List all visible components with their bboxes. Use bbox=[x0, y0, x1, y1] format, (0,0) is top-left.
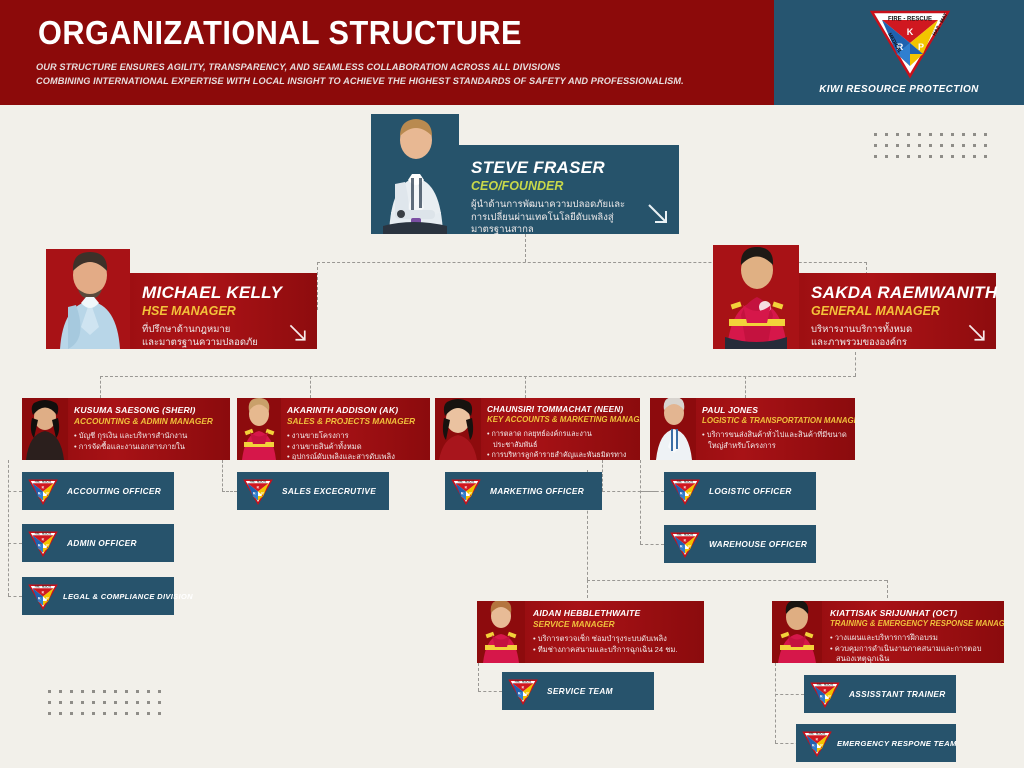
connector-kiattisak-b1 bbox=[775, 694, 804, 695]
svg-text:FIRE - RESCUE: FIRE - RESCUE bbox=[888, 17, 932, 23]
bullet: • การตลาด กลยุทธ์องค์กรและงานประชาสัมพัน… bbox=[487, 429, 635, 450]
connector-akarinth-spine bbox=[222, 460, 223, 491]
team-box-logistic-officer[interactable]: FIRE - RESCUE K R P LOGISTIC OFFICER bbox=[664, 472, 816, 510]
manager-card-akarinth-text: AKARINTH ADDISON (AK) SALES & PROJECTS M… bbox=[287, 405, 424, 460]
manager-card-kiattisak-photo bbox=[772, 601, 822, 663]
connector-paul-spine bbox=[640, 460, 641, 544]
page-header: ORGANIZATIONAL STRUCTURE OUR STRUCTURE E… bbox=[0, 0, 1024, 105]
svg-text:K: K bbox=[42, 590, 45, 594]
team-box-label: EMERGENCY RESPONE TEAM bbox=[837, 739, 957, 748]
team-box-label: ADMIN OFFICER bbox=[67, 538, 137, 548]
manager-card-aidan-name: AIDAN HEBBLETHWAITE bbox=[533, 608, 698, 618]
svg-text:R: R bbox=[812, 743, 815, 747]
exec-card-ceo-arrow-icon bbox=[645, 201, 671, 227]
connector-manager-bus bbox=[100, 376, 856, 377]
svg-text:FIRE - RESCUE: FIRE - RESCUE bbox=[817, 684, 834, 686]
manager-card-kusuma-role: ACCOUNTING & ADMIN MANAGER bbox=[74, 416, 224, 426]
page-subtitle-line-1: OUR STRUCTURE ENSURES AGILITY, TRANSPARE… bbox=[36, 60, 684, 74]
svg-text:R: R bbox=[680, 544, 683, 548]
svg-text:FIRE - RESCUE: FIRE - RESCUE bbox=[35, 533, 52, 535]
connector-ceo-stem bbox=[525, 234, 526, 262]
kiwi-shield-icon: FIRE - RESCUE K R P bbox=[243, 478, 273, 505]
svg-text:R: R bbox=[680, 491, 683, 495]
connector-sakda-stem bbox=[855, 352, 856, 376]
team-box-label: ACCOUTING OFFICER bbox=[67, 486, 161, 496]
svg-text:R: R bbox=[38, 491, 41, 495]
manager-card-kusuma-name: KUSUMA SAESONG (SHERI) bbox=[74, 405, 224, 415]
exec-card-sakda-raemwanith[interactable]: SAKDA RAEMWANITH GENERAL MANAGER บริหารง… bbox=[713, 273, 996, 349]
bullet: • บัญชี กุรเงิน และบริหารสำนักงาน bbox=[74, 431, 224, 442]
bullet: • การบริหารลูกค้ารายสำคัญและพันธมิตรทางธ… bbox=[487, 450, 635, 460]
bullet: • อุปกรณ์ดับเพลิงและสารดับเพลิง bbox=[287, 452, 424, 460]
connector-akarinth-b1 bbox=[222, 491, 237, 492]
team-box-label: MARKETING OFFICER bbox=[490, 486, 584, 496]
exec-card-michael-kelly-role: HSE MANAGER bbox=[142, 304, 307, 318]
exec-card-sakda-text: SAKDA RAEMWANITH GENERAL MANAGER บริหารง… bbox=[811, 283, 986, 349]
kiwi-shield-icon: FIRE - RESCUE K R P bbox=[670, 531, 700, 558]
svg-text:R: R bbox=[38, 543, 41, 547]
bullet: • ทีมช่างภาคสนามและบริการฉุกเฉิน 24 ชม. bbox=[533, 645, 698, 656]
kiwi-shield-icon: FIRE - RESCUE K R P bbox=[28, 583, 58, 610]
manager-card-paul-bullets: • บริการขนส่งสินค้าทั่วไปและสินค้าที่มีข… bbox=[702, 430, 849, 451]
svg-text:R: R bbox=[253, 491, 256, 495]
manager-card-akarinth-addison[interactable]: AKARINTH ADDISON (AK) SALES & PROJECTS M… bbox=[237, 398, 430, 460]
manager-card-kiattisak-role: TRAINING & EMERGENCY RESPONSE MANAGER bbox=[830, 619, 998, 628]
team-box-label: WAREHOUSE OFFICER bbox=[709, 539, 807, 549]
svg-text:R: R bbox=[461, 491, 464, 495]
team-box-assisstant-trainer[interactable]: FIRE - RESCUE K R P ASSISSTANT TRAINER bbox=[804, 675, 956, 713]
svg-text:K: K bbox=[907, 27, 914, 37]
kiwi-shield-icon: FIRE - RESCUE K R P bbox=[670, 478, 700, 505]
manager-card-kusuma-photo bbox=[22, 398, 68, 460]
exec-card-ceo-role: CEO/FOUNDER bbox=[471, 179, 669, 193]
exec-card-michael-kelly[interactable]: MICHAEL KELLY HSE MANAGER ที่ปรึกษาด้านก… bbox=[46, 273, 317, 349]
manager-card-aidan-hebblethwaite[interactable]: AIDAN HEBBLETHWAITE SERVICE MANAGER • บร… bbox=[477, 601, 704, 663]
page-subtitle: OUR STRUCTURE ENSURES AGILITY, TRANSPARE… bbox=[36, 60, 684, 88]
connector-kiattisak-drop bbox=[887, 580, 888, 598]
bullet: • ควบคุมการดำเนินงานภาคสนามและการตอบสนอง… bbox=[830, 644, 998, 664]
connector-mgr3-drop bbox=[525, 376, 526, 398]
kiwi-shield-icon: FIRE - RESCUE K R P bbox=[451, 478, 481, 505]
svg-text:K: K bbox=[824, 688, 827, 692]
connector-chaunsiri-spine bbox=[602, 460, 603, 491]
bullet: • บริการตรวจเช็ก ซ่อมบำรุงระบบดับเพลิง bbox=[533, 634, 698, 645]
exec-card-sakda-description: บริหารงานบริการทั้งหมด และภาพรวมขององค์ก… bbox=[811, 324, 986, 349]
company-logo-icon: FIRE - RESCUE K R P MEDICAL HAZ - MAT bbox=[869, 8, 951, 80]
manager-card-chaunsiri-photo bbox=[435, 398, 481, 460]
manager-card-paul-role: LOGISTIC & TRANSPORTATION MANAGER bbox=[702, 416, 849, 425]
connector-paul-b2 bbox=[640, 544, 664, 545]
svg-text:FIRE - RESCUE: FIRE - RESCUE bbox=[35, 481, 52, 483]
svg-text:K: K bbox=[684, 485, 687, 489]
bullet: • งานขายโครงการ bbox=[287, 431, 424, 442]
team-box-label: ASSISSTANT TRAINER bbox=[849, 689, 946, 699]
manager-card-akarinth-photo bbox=[237, 398, 281, 460]
svg-text:P: P bbox=[918, 42, 924, 52]
connector-mgr2-drop bbox=[310, 376, 311, 398]
exec-card-sakda-photo bbox=[713, 245, 799, 349]
manager-card-kiattisak-srijunhat[interactable]: KIATTISAK SRIJUNHAT (OCT) TRAINING & EME… bbox=[772, 601, 1004, 663]
kiwi-shield-icon: FIRE - RESCUE K R P bbox=[508, 678, 538, 705]
exec-card-ceo[interactable]: STEVE FRASER CEO/FOUNDER ผู้นำด้านการพัฒ… bbox=[371, 145, 679, 234]
manager-card-kiattisak-bullets: • วางแผนและบริหารการฝึกอบรม • ควบคุมการด… bbox=[830, 633, 998, 663]
exec-card-ceo-name: STEVE FRASER bbox=[471, 158, 669, 178]
svg-text:K: K bbox=[42, 537, 45, 541]
manager-card-chaunsiri-tommachat[interactable]: CHAUNSIRI TOMMACHAT (NEEN) KEY ACCOUNTS … bbox=[435, 398, 640, 460]
page-title: ORGANIZATIONAL STRUCTURE bbox=[38, 14, 522, 52]
svg-text:FIRE - RESCUE: FIRE - RESCUE bbox=[515, 681, 532, 683]
svg-text:FIRE - RESCUE: FIRE - RESCUE bbox=[677, 481, 694, 483]
team-box-label: LOGISTIC OFFICER bbox=[709, 486, 792, 496]
bullet: • งานขายสินค้าทั้งหมด bbox=[287, 442, 424, 453]
svg-text:R: R bbox=[518, 691, 521, 695]
exec-card-michael-kelly-arrow-icon bbox=[287, 322, 309, 344]
manager-card-chaunsiri-bullets: • การตลาด กลยุทธ์องค์กรและงานประชาสัมพัน… bbox=[487, 429, 635, 460]
bullet: • บริการขนส่งสินค้าทั่วไปและสินค้าที่มีข… bbox=[702, 430, 849, 451]
org-chart-page: ORGANIZATIONAL STRUCTURE OUR STRUCTURE E… bbox=[0, 0, 1024, 768]
page-subtitle-line-2: COMBINING INTERNATIONAL EXPERTISE WITH L… bbox=[36, 74, 684, 88]
brand-name: KIWI RESOURCE PROTECTION bbox=[774, 84, 1024, 95]
connector-kusuma-spine bbox=[8, 460, 9, 596]
manager-card-aidan-bullets: • บริการตรวจเช็ก ซ่อมบำรุงระบบดับเพลิง •… bbox=[533, 634, 698, 655]
connector-paul-b1 bbox=[640, 491, 664, 492]
team-box-warehouse-officer[interactable]: FIRE - RESCUE K R P WAREHOUSE OFFICER bbox=[664, 525, 816, 563]
exec-card-michael-kelly-photo bbox=[46, 249, 130, 349]
manager-card-akarinth-bullets: • งานขายโครงการ • งานขายสินค้าทั้งหมด • … bbox=[287, 431, 424, 460]
svg-text:K: K bbox=[257, 485, 260, 489]
connector-mk-drop bbox=[317, 262, 318, 310]
manager-card-kusuma-bullets: • บัญชี กุรเงิน และบริหารสำนักงาน • การจ… bbox=[74, 431, 224, 452]
exec-card-michael-kelly-description: ที่ปรึกษาด้านกฎหมาย และมาตรฐานความปลอดภั… bbox=[142, 324, 307, 349]
exec-card-sakda-arrow-icon bbox=[966, 322, 988, 344]
svg-text:R: R bbox=[820, 694, 823, 698]
team-box-label: SERVICE TEAM bbox=[547, 686, 613, 696]
bullet: • วางแผนและบริหารการฝึกอบรม bbox=[830, 633, 998, 644]
bullet: • การจัดซื้อและงานเอกสารภายใน bbox=[74, 442, 224, 453]
manager-card-akarinth-role: SALES & PROJECTS MANAGER bbox=[287, 416, 424, 426]
manager-card-paul-text: PAUL JONES LOGISTIC & TRANSPORTATION MAN… bbox=[702, 405, 849, 451]
svg-text:K: K bbox=[42, 485, 45, 489]
exec-card-sakda-name: SAKDA RAEMWANITH bbox=[811, 283, 986, 303]
exec-card-michael-kelly-name: MICHAEL KELLY bbox=[142, 283, 307, 303]
manager-card-paul-name: PAUL JONES bbox=[702, 405, 849, 415]
kiwi-shield-icon: FIRE - RESCUE K R P bbox=[28, 530, 58, 557]
manager-card-aidan-photo bbox=[477, 601, 525, 663]
team-box-marketing-officer[interactable]: FIRE - RESCUE K R P MARKETING OFFICER bbox=[445, 472, 602, 510]
connector-kiattisak-spine bbox=[775, 663, 776, 743]
svg-text:K: K bbox=[522, 685, 525, 689]
team-box-admin-officer[interactable]: FIRE - RESCUE K R P ADMIN OFFICER bbox=[22, 524, 174, 562]
team-box-label: SALES EXCECRUTIVE bbox=[282, 486, 376, 496]
team-box-label: LEGAL & COMPLIANCE DIVISION bbox=[63, 592, 193, 601]
connector-mgr1-drop bbox=[100, 376, 101, 398]
svg-text:K: K bbox=[684, 538, 687, 542]
exec-card-ceo-text: STEVE FRASER CEO/FOUNDER ผู้นำด้านการพัฒ… bbox=[471, 158, 669, 237]
connector-kusuma-b2 bbox=[8, 543, 22, 544]
exec-card-ceo-photo bbox=[371, 114, 459, 234]
manager-card-kusuma-text: KUSUMA SAESONG (SHERI) ACCOUNTING & ADMI… bbox=[74, 405, 224, 452]
manager-card-chaunsiri-text: CHAUNSIRI TOMMACHAT (NEEN) KEY ACCOUNTS … bbox=[487, 405, 635, 460]
kiwi-shield-icon: FIRE - RESCUE K R P bbox=[810, 681, 840, 708]
connector-aidan-drop bbox=[587, 580, 588, 598]
team-box-sales-excecrutive[interactable]: FIRE - RESCUE K R P SALES EXCECRUTIVE bbox=[237, 472, 389, 510]
connector-kusuma-b1 bbox=[8, 491, 22, 492]
svg-text:FIRE - RESCUE: FIRE - RESCUE bbox=[250, 481, 267, 483]
svg-text:FIRE - RESCUE: FIRE - RESCUE bbox=[35, 586, 52, 588]
svg-text:FIRE - RESCUE: FIRE - RESCUE bbox=[677, 534, 694, 536]
team-box-emergency-respone-team[interactable]: FIRE - RESCUE K R P EMERGENCY RESPONE TE… bbox=[796, 724, 956, 762]
svg-text:K: K bbox=[465, 485, 468, 489]
manager-card-aidan-role: SERVICE MANAGER bbox=[533, 619, 698, 629]
exec-card-sakda-role: GENERAL MANAGER bbox=[811, 304, 986, 318]
manager-card-akarinth-name: AKARINTH ADDISON (AK) bbox=[287, 405, 424, 415]
kiwi-shield-icon: FIRE - RESCUE K R P bbox=[28, 478, 58, 505]
manager-card-paul-jones[interactable]: PAUL JONES LOGISTIC & TRANSPORTATION MAN… bbox=[650, 398, 855, 460]
team-box-accouting-officer[interactable]: FIRE - RESCUE K R P ACCOUTING OFFICER bbox=[22, 472, 174, 510]
connector-aidan-spine bbox=[478, 663, 479, 691]
manager-card-paul-photo bbox=[650, 398, 696, 460]
svg-text:FIRE - RESCUE: FIRE - RESCUE bbox=[458, 481, 475, 483]
manager-card-chaunsiri-name: CHAUNSIRI TOMMACHAT (NEEN) bbox=[487, 405, 635, 414]
exec-card-ceo-description: ผู้นำด้านการพัฒนาความปลอดภัยและ การเปลี่… bbox=[471, 199, 669, 237]
connector-lower-bus bbox=[587, 580, 887, 581]
exec-card-michael-kelly-text: MICHAEL KELLY HSE MANAGER ที่ปรึกษาด้านก… bbox=[142, 283, 307, 349]
manager-card-aidan-text: AIDAN HEBBLETHWAITE SERVICE MANAGER • บร… bbox=[533, 608, 698, 655]
manager-card-kusuma-saesong[interactable]: KUSUMA SAESONG (SHERI) ACCOUNTING & ADMI… bbox=[22, 398, 230, 460]
dot-grid-top-right bbox=[874, 133, 986, 161]
svg-text:K: K bbox=[816, 737, 819, 741]
manager-card-kiattisak-name: KIATTISAK SRIJUNHAT (OCT) bbox=[830, 608, 998, 618]
team-box-legal-compliance-division[interactable]: FIRE - RESCUE K R P LEGAL & COMPLIANCE D… bbox=[22, 577, 174, 615]
svg-text:R: R bbox=[38, 596, 41, 600]
kiwi-shield-icon: FIRE - RESCUE K R P bbox=[802, 730, 832, 757]
team-box-service-team[interactable]: FIRE - RESCUE K R P SERVICE TEAM bbox=[502, 672, 654, 710]
connector-mgr4-drop bbox=[745, 376, 746, 398]
svg-text:FIRE - RESCUE: FIRE - RESCUE bbox=[809, 733, 826, 735]
dot-grid-bottom-left bbox=[48, 690, 160, 718]
manager-card-chaunsiri-role: KEY ACCOUNTS & MARKETING MANAGER bbox=[487, 415, 635, 424]
manager-card-kiattisak-text: KIATTISAK SRIJUNHAT (OCT) TRAINING & EME… bbox=[830, 608, 998, 663]
connector-kusuma-b3 bbox=[8, 596, 22, 597]
connector-aidan-b1 bbox=[478, 691, 502, 692]
